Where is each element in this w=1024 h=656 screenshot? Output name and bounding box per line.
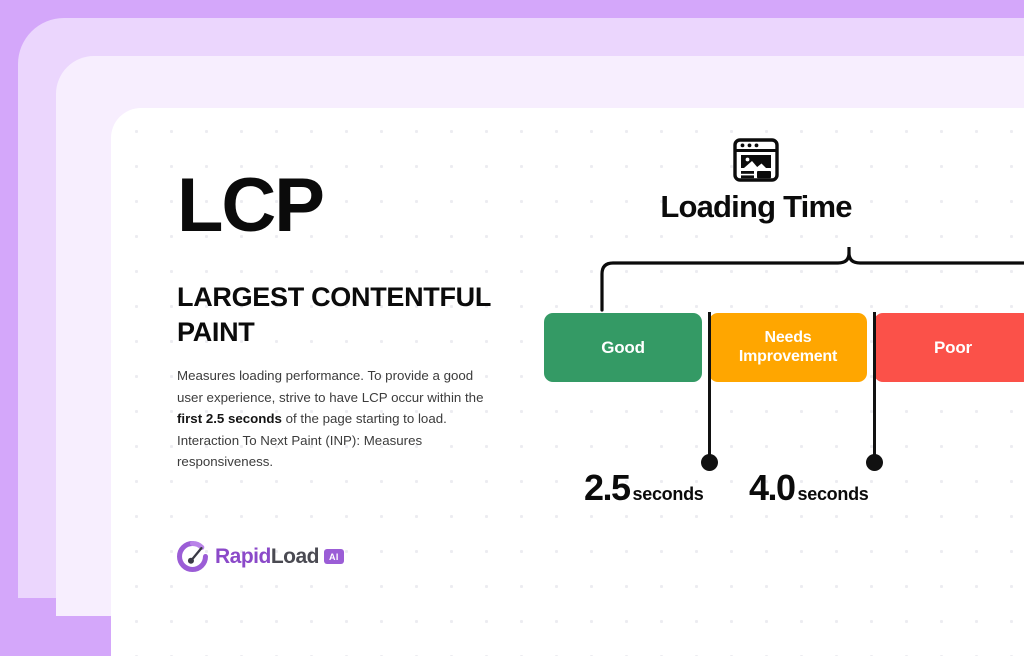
threshold-value-1: 2.5 [584, 467, 630, 508]
threshold-value-2: 4.0 [749, 467, 795, 508]
band-bar-poor[interactable]: Poor [874, 313, 1024, 382]
band-bar-good[interactable]: Good [544, 313, 702, 382]
band-bar-needs-improvement[interactable]: NeedsImprovement [709, 313, 867, 382]
band-label-poor: Poor [934, 338, 972, 358]
band-label-line1: Needs [764, 329, 811, 346]
threshold-connector-line-2 [873, 312, 876, 462]
page-background-frame: LCP LARGEST CONTENTFUL PAINT Measures lo… [0, 0, 1024, 576]
threshold-marker-dot-1 [701, 454, 718, 471]
band-label-needs-improvement: NeedsImprovement [739, 329, 837, 366]
scale-band-bars: Good NeedsImprovement Poor [544, 313, 1024, 382]
band-label-line2: Improvement [739, 348, 837, 365]
band-label-good: Good [601, 338, 645, 358]
scale-title: Loading Time [636, 189, 876, 225]
infographic-canvas: LCP LARGEST CONTENTFUL PAINT Measures lo… [111, 108, 1024, 656]
scale-brace [536, 247, 1024, 317]
threshold-unit-2: seconds [798, 484, 869, 504]
threshold-marker-dot-2 [866, 454, 883, 471]
webpage-window-icon [732, 138, 780, 182]
frame-band-mid: LCP LARGEST CONTENTFUL PAINT Measures lo… [18, 18, 1024, 598]
threshold-label-2: 4.0seconds [749, 467, 868, 509]
threshold-unit-1: seconds [633, 484, 704, 504]
loading-time-scale-panel: Loading Time Good NeedsImprovement [111, 108, 1024, 656]
threshold-label-1: 2.5seconds [584, 467, 703, 509]
scale-header: Loading Time [636, 138, 876, 225]
frame-band-inner: LCP LARGEST CONTENTFUL PAINT Measures lo… [56, 56, 1024, 616]
threshold-connector-line-1 [708, 312, 711, 462]
